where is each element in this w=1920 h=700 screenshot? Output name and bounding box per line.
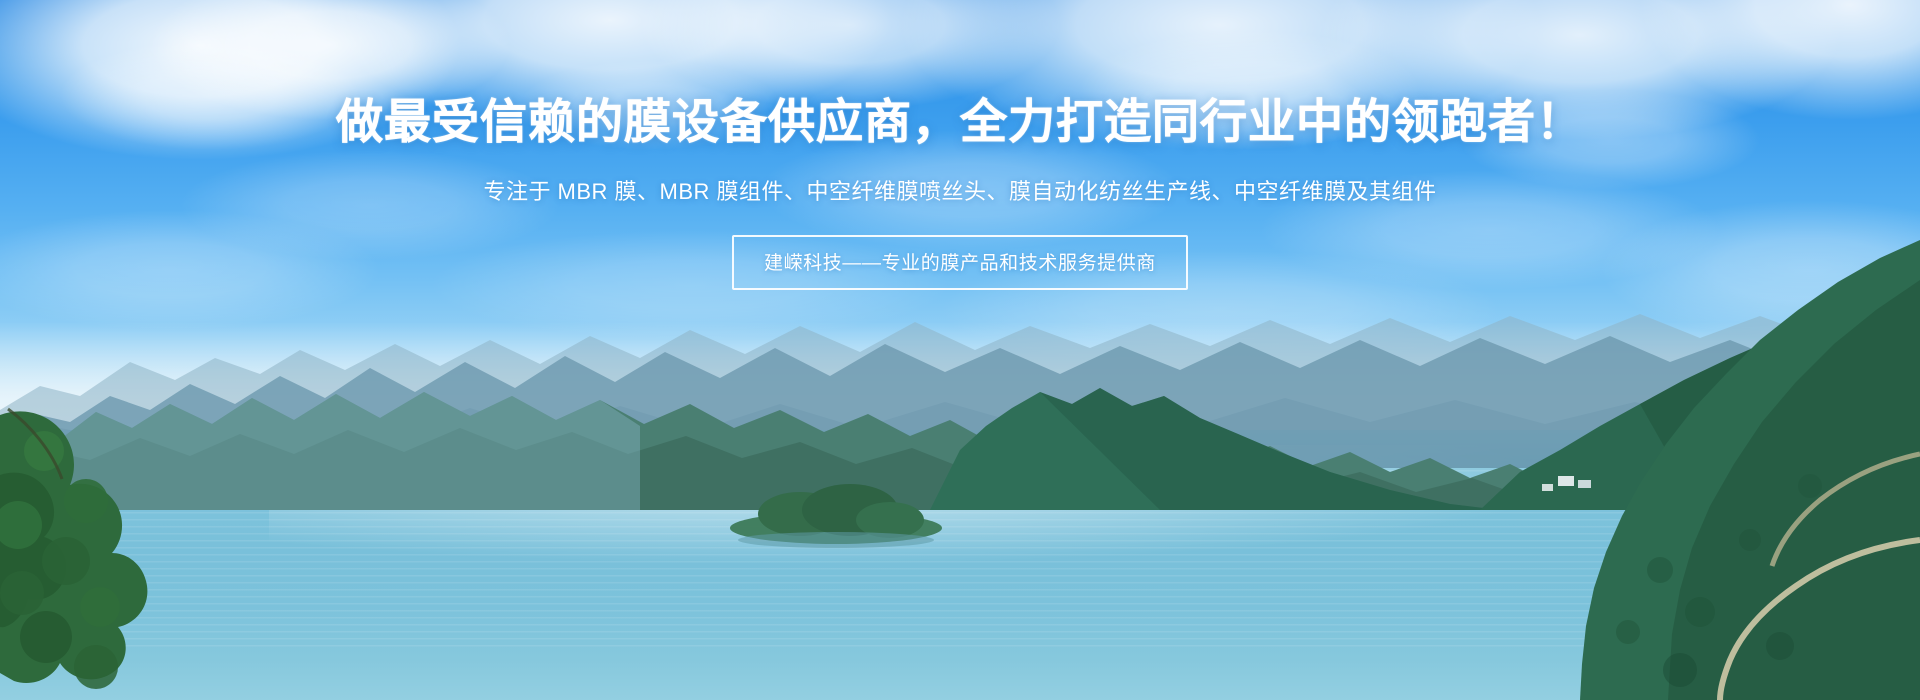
tagline-box: 建嵘科技——专业的膜产品和技术服务提供商: [732, 235, 1188, 290]
banner-subtitle: 专注于 MBR 膜、MBR 膜组件、中空纤维膜喷丝头、膜自动化纺丝生产线、中空纤…: [483, 174, 1436, 206]
banner-text-overlay: 做最受信赖的膜设备供应商，全力打造同行业中的领跑者！ 专注于 MBR 膜、MBR…: [0, 0, 1920, 700]
page-title: 做最受信赖的膜设备供应商，全力打造同行业中的领跑者！: [336, 96, 1584, 148]
hero-banner: 做最受信赖的膜设备供应商，全力打造同行业中的领跑者！ 专注于 MBR 膜、MBR…: [0, 0, 1920, 700]
tagline-text: 建嵘科技——专业的膜产品和技术服务提供商: [764, 253, 1156, 274]
